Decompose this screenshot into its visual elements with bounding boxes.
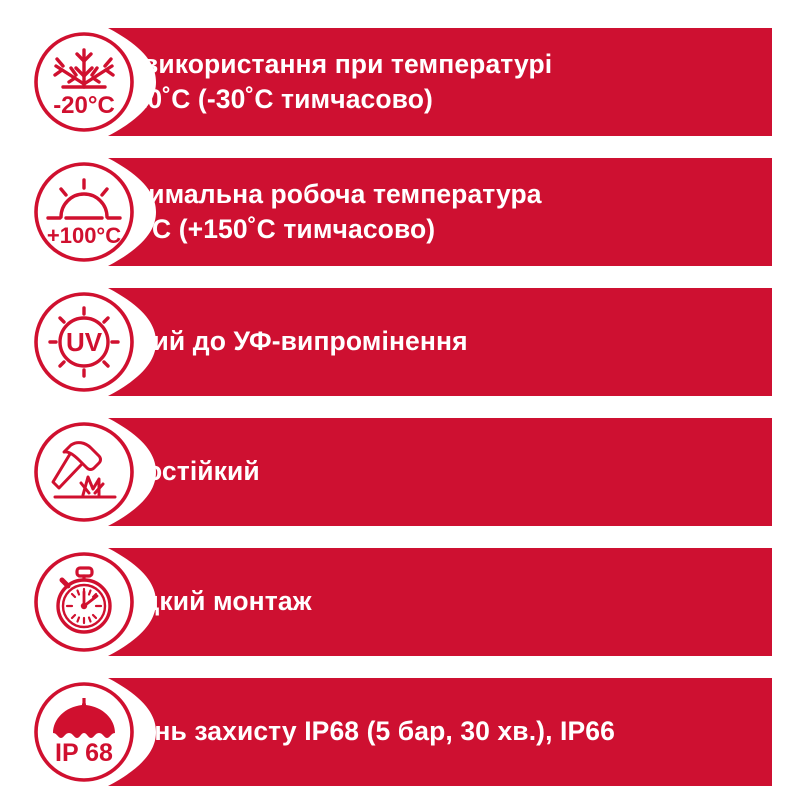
feature-row: Ступінь захисту IP68 (5 бар, 30 хв.), IP… — [0, 678, 800, 786]
feature-banner — [108, 418, 772, 526]
feature-banner — [108, 158, 772, 266]
feature-row: Стійкий до УФ-випромінення UV — [0, 288, 800, 396]
sun-heat-icon-glyph: +100°C — [33, 161, 135, 263]
sun-heat-icon-label: +100°C — [47, 223, 121, 248]
feature-row: Швидкий монтаж — [0, 548, 800, 656]
hammer-impact-icon — [33, 421, 135, 523]
feature-row: Для використання при температурі до -20˚… — [0, 28, 800, 136]
umbrella-icon-glyph: IP 68 — [33, 681, 135, 783]
uv-sun-icon: UV — [33, 291, 135, 393]
banner-shape — [108, 548, 772, 656]
feature-banner — [108, 548, 772, 656]
snowflake-icon-label: -20°C — [53, 92, 115, 119]
feature-infographic: Для використання при температурі до -20˚… — [0, 0, 800, 800]
stopwatch-icon-glyph — [33, 551, 135, 653]
feature-banner — [108, 28, 772, 136]
banner-shape — [108, 288, 772, 396]
snowflake-icon: -20°C — [33, 31, 135, 133]
feature-banner — [108, 678, 772, 786]
uv-sun-icon-glyph: UV — [33, 291, 135, 393]
feature-row: Ударостійкий — [0, 418, 800, 526]
feature-row: Максимальна робоча температура +100˚С (+… — [0, 158, 800, 266]
umbrella-icon-label: IP 68 — [55, 739, 113, 767]
sun-heat-icon: +100°C — [33, 161, 135, 263]
banner-shape — [108, 418, 772, 526]
banner-shape — [108, 678, 772, 786]
hammer-impact-icon-glyph — [33, 421, 135, 523]
umbrella-icon: IP 68 — [33, 681, 135, 783]
banner-shape — [108, 158, 772, 266]
feature-banner — [108, 288, 772, 396]
snowflake-icon-glyph: -20°C — [33, 31, 135, 133]
stopwatch-icon — [33, 551, 135, 653]
uv-sun-icon-label: UV — [66, 327, 103, 357]
banner-shape — [108, 28, 772, 136]
